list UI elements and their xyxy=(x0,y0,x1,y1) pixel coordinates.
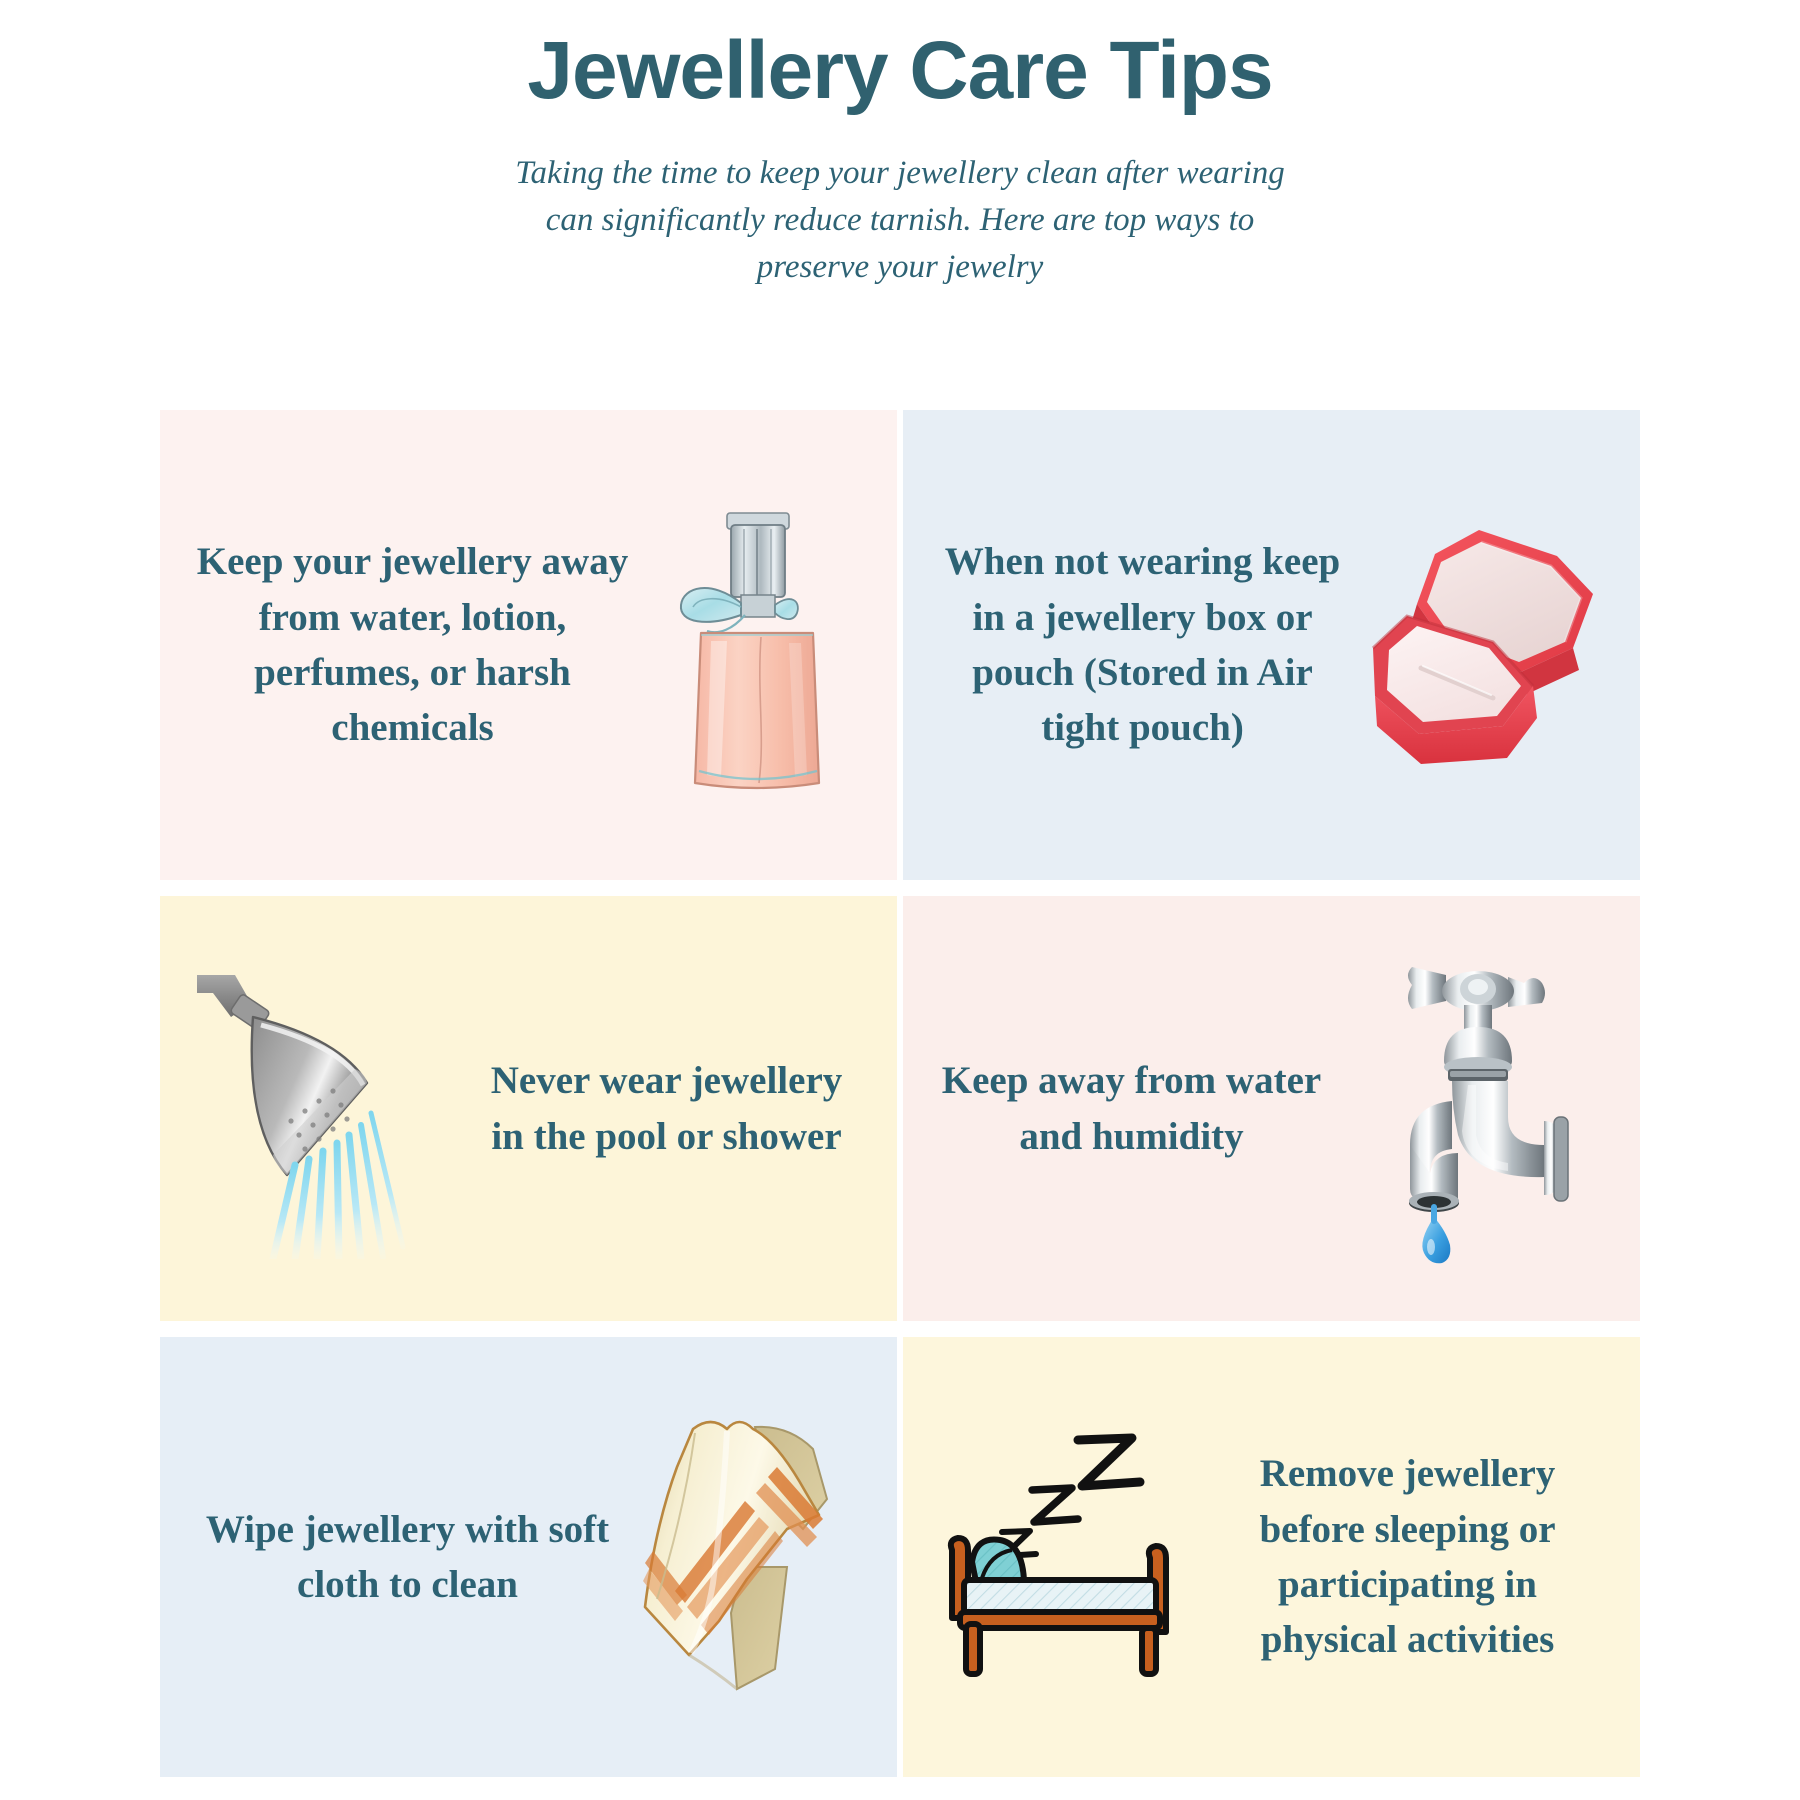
tip-card-label: Keep away from water and humidity xyxy=(903,1053,1340,1164)
tip-card-label: Keep your jewellery away from water, lot… xyxy=(160,534,647,756)
tip-card-no-pool-or-shower[interactable]: Never wear jewellery in the pool or show… xyxy=(160,896,897,1321)
faucet-icon xyxy=(1340,949,1640,1269)
tip-card-wipe-with-cloth[interactable]: Wipe jewellery with soft cloth to clean xyxy=(160,1337,897,1777)
perfume-bottle-icon xyxy=(647,495,897,795)
tip-card-keep-away-chemicals[interactable]: Keep your jewellery away from water, lot… xyxy=(160,410,897,880)
tip-card-label: Remove jewellery before sleeping or part… xyxy=(1203,1446,1640,1668)
page-title: Jewellery Care Tips xyxy=(0,0,1800,114)
bed-sleeping-icon xyxy=(903,1432,1203,1682)
shower-head-icon xyxy=(160,959,460,1259)
tip-card-label: Never wear jewellery in the pool or show… xyxy=(460,1053,897,1164)
tip-card-label: When not wearing keep in a jewellery box… xyxy=(903,534,1360,756)
page-subtitle: Taking the time to keep your jewellery c… xyxy=(500,114,1300,291)
tips-grid: Keep your jewellery away from water, lot… xyxy=(160,410,1640,1777)
ring-box-icon xyxy=(1360,520,1640,770)
infographic-page: Jewellery Care Tips Taking the time to k… xyxy=(0,0,1800,1800)
tip-card-label: Wipe jewellery with soft cloth to clean xyxy=(160,1502,627,1613)
tip-card-remove-before-sleep[interactable]: Remove jewellery before sleeping or part… xyxy=(903,1337,1640,1777)
tip-card-store-in-box[interactable]: When not wearing keep in a jewellery box… xyxy=(903,410,1640,880)
header: Jewellery Care Tips Taking the time to k… xyxy=(0,0,1800,291)
cloth-icon xyxy=(627,1407,897,1707)
tip-card-avoid-water-humidity[interactable]: Keep away from water and humidity xyxy=(903,896,1640,1321)
